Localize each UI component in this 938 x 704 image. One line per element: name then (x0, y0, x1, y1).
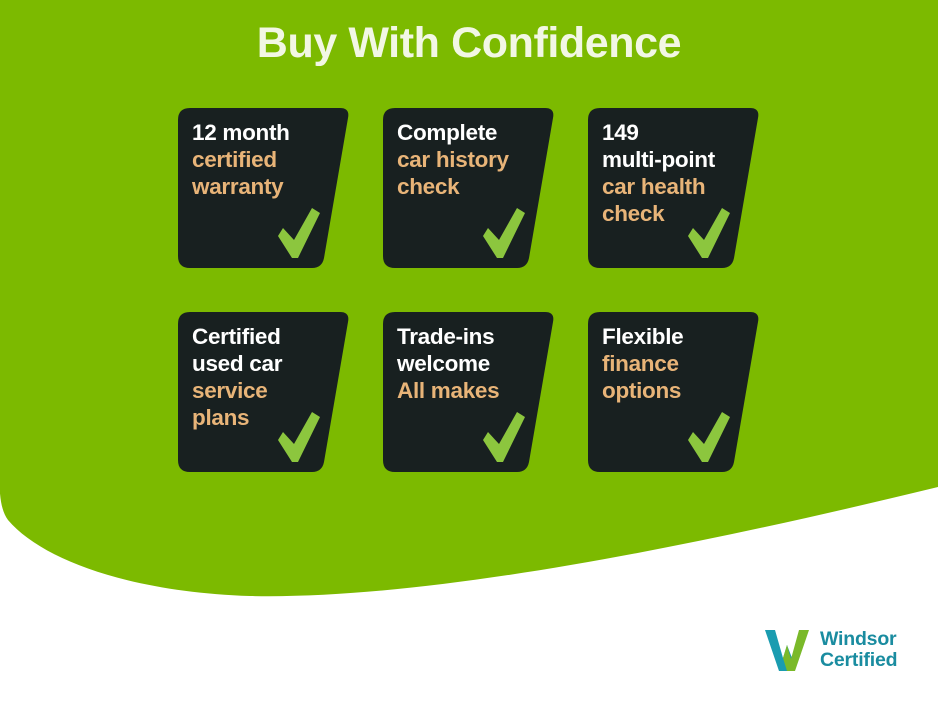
feature-card-twelve-month-certified-warranty[interactable]: 12 month certified warranty (178, 108, 350, 268)
card-line: warranty (192, 173, 340, 200)
card-line: 149 (602, 119, 750, 146)
card-row-top: 12 month certified warranty Complete car… (178, 108, 758, 268)
card-line: Complete (397, 119, 545, 146)
card-text-block: Complete car history check (397, 119, 545, 200)
card-line: welcome (397, 350, 545, 377)
windsor-w-icon (762, 628, 812, 672)
card-line: car history (397, 146, 545, 173)
logo-line-2: Certified (820, 650, 897, 671)
card-row-bottom: Certified used car service plans Trade-i… (178, 312, 758, 472)
card-line: certified (192, 146, 340, 173)
card-line: All makes (397, 377, 545, 404)
check-icon (276, 410, 322, 466)
feature-card-grid: 12 month certified warranty Complete car… (178, 108, 758, 516)
card-text-block: Trade-ins welcome All makes (397, 323, 545, 404)
feature-card-trade-ins-welcome-all-makes[interactable]: Trade-ins welcome All makes (383, 312, 555, 472)
card-line: multi-point (602, 146, 750, 173)
card-text-block: Flexible finance options (602, 323, 750, 404)
logo-line-1: Windsor (820, 629, 897, 650)
feature-card-flexible-finance-options[interactable]: Flexible finance options (588, 312, 760, 472)
check-icon (686, 206, 732, 262)
card-line: Trade-ins (397, 323, 545, 350)
card-line: Certified (192, 323, 340, 350)
card-text-block: 12 month certified warranty (192, 119, 340, 200)
card-line: service (192, 377, 340, 404)
logo-wordmark: Windsor Certified (820, 629, 897, 671)
card-line: Flexible (602, 323, 750, 350)
card-line: 12 month (192, 119, 340, 146)
check-icon (481, 206, 527, 262)
card-line: check (397, 173, 545, 200)
card-line: options (602, 377, 750, 404)
check-icon (276, 206, 322, 262)
check-icon (686, 410, 732, 466)
feature-card-149-multi-point-car-health-check[interactable]: 149 multi-point car health check (588, 108, 760, 268)
feature-card-certified-used-car-service-plans[interactable]: Certified used car service plans (178, 312, 350, 472)
card-line: used car (192, 350, 340, 377)
page-title: Buy With Confidence (0, 20, 938, 67)
buy-with-confidence-banner: Buy With Confidence 12 month certified w… (0, 0, 938, 704)
feature-card-complete-car-history-check[interactable]: Complete car history check (383, 108, 555, 268)
card-line: finance (602, 350, 750, 377)
card-line: car health (602, 173, 750, 200)
check-icon (481, 410, 527, 466)
windsor-certified-logo[interactable]: Windsor Certified (762, 628, 897, 672)
